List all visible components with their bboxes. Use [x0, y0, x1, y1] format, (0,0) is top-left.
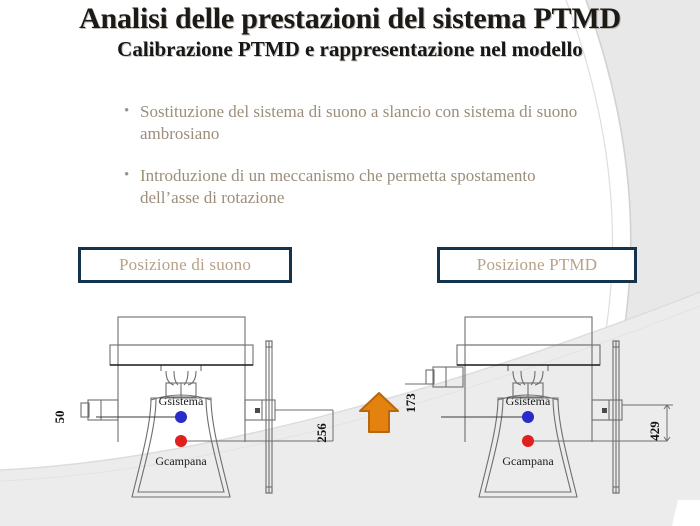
bearing-right	[592, 400, 622, 420]
gcampana-label: Gcampana	[155, 454, 207, 468]
gsistema-marker	[175, 411, 187, 423]
bullet-text: Sostituzione del sistema di suono a slan…	[140, 101, 594, 145]
bullet-text: Introduzione di un meccanismo che permet…	[140, 165, 594, 209]
gcampana-label: Gcampana	[502, 454, 554, 468]
up-arrow-icon	[357, 390, 401, 436]
bearing-right	[245, 400, 275, 420]
panel-label-right-text: Posizione PTMD	[477, 255, 597, 275]
gsistema-marker	[522, 411, 534, 423]
dim-label-256: 256	[314, 423, 329, 443]
page-subtitle: Calibrazione PTMD e rappresentazione nel…	[0, 38, 700, 60]
gcampana-marker	[522, 435, 534, 447]
crown-stems	[161, 365, 201, 371]
bell-drawing-left-svg: Gsistema Gcampana 50 256	[48, 305, 358, 526]
bell-diagram-right: Gsistema Gcampana 173 429	[405, 305, 700, 526]
bullet-list: • Sostituzione del sistema di suono a sl…	[124, 101, 594, 229]
bell-drawing-right-svg: Gsistema Gcampana 173 429	[405, 305, 700, 526]
dim-label-429: 429	[647, 421, 662, 441]
bullet-marker-icon: •	[124, 101, 140, 122]
transition-arrow	[357, 390, 401, 436]
gsistema-label: Gsistema	[159, 394, 204, 408]
bullet-marker-icon: •	[124, 165, 140, 186]
up-arrow-shape	[360, 393, 398, 432]
frame-top-right	[465, 317, 592, 345]
panel-label-right: Posizione PTMD	[437, 247, 637, 283]
headstock-beam	[110, 345, 253, 365]
frame-top-left	[118, 317, 245, 345]
dim-label-173: 173	[405, 393, 418, 413]
panel-label-left: Posizione di suono	[78, 247, 292, 283]
bell-diagram-left: Gsistema Gcampana 50 256	[48, 305, 358, 526]
wheel-rod	[613, 341, 619, 493]
panel-label-left-text: Posizione di suono	[119, 255, 251, 275]
dim-label-50: 50	[52, 411, 67, 424]
gsistema-label: Gsistema	[506, 394, 551, 408]
crown-stems	[508, 365, 548, 371]
page-title: Analisi delle prestazioni del sistema PT…	[0, 3, 700, 35]
slide-canvas: Analisi delle prestazioni del sistema PT…	[0, 0, 700, 526]
list-item: • Introduzione di un meccanismo che perm…	[124, 165, 594, 209]
gcampana-marker	[175, 435, 187, 447]
list-item: • Sostituzione del sistema di suono a sl…	[124, 101, 594, 145]
wheel-rod	[266, 341, 272, 493]
headstock-beam	[457, 345, 600, 365]
title-block: Analisi delle prestazioni del sistema PT…	[0, 0, 700, 60]
